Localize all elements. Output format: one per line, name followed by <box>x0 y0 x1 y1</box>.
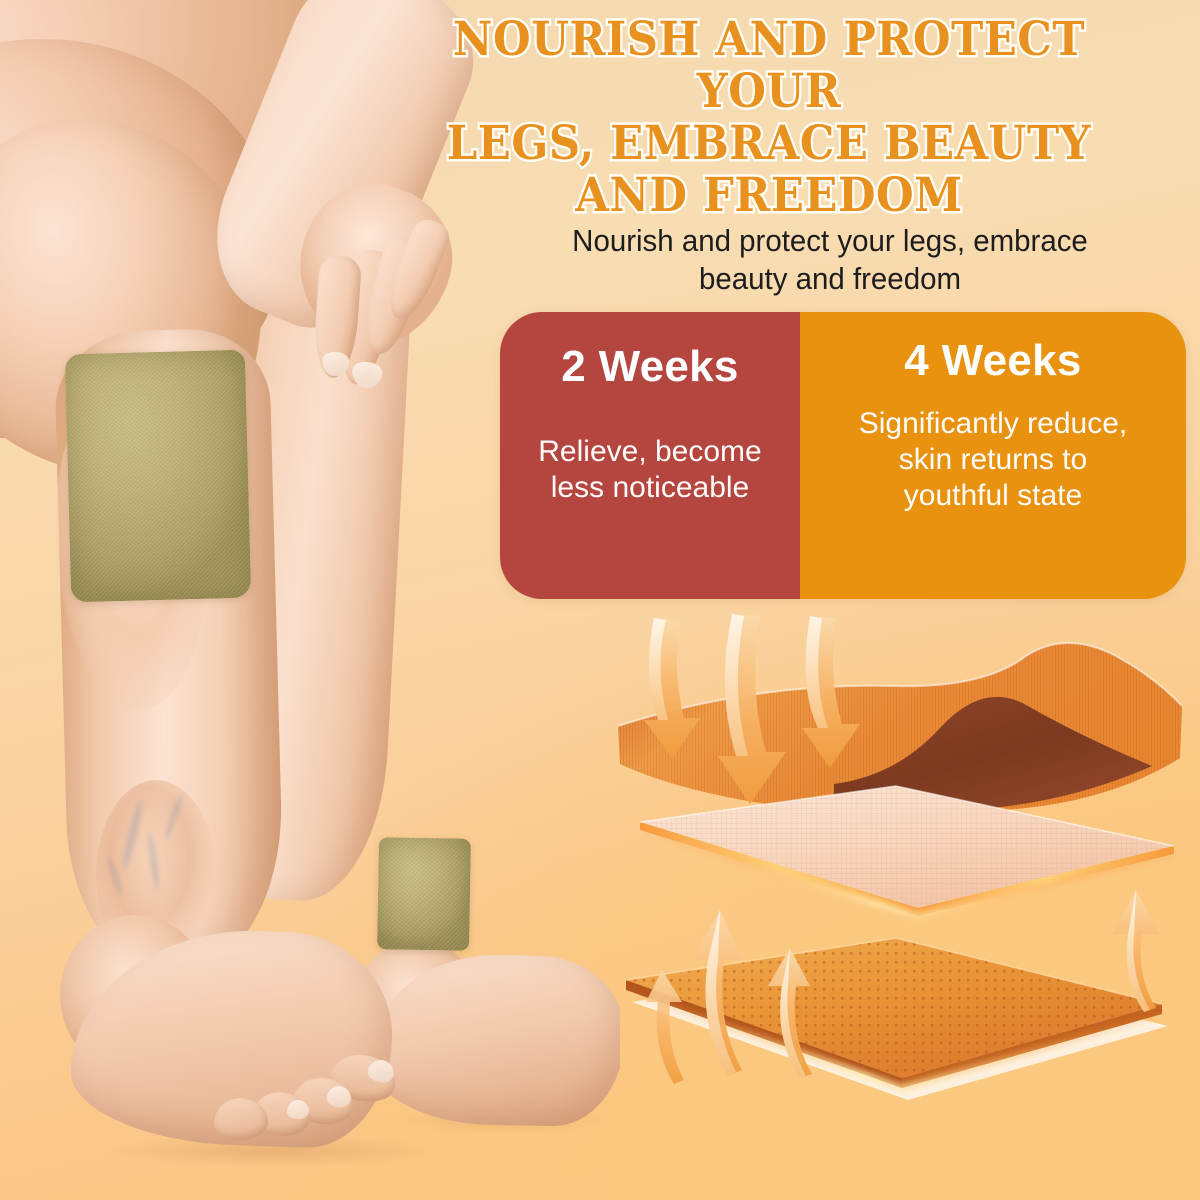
pane-body-line: Relieve, become <box>516 434 784 470</box>
subtitle: Nourish and protect your legs, embrace b… <box>488 222 1172 298</box>
ankle-patch <box>377 837 471 951</box>
pane-body-line: youthful state <box>816 478 1170 514</box>
pane-title-2-weeks: 2 Weeks <box>516 342 784 392</box>
mesh-membrane-layer <box>640 786 1174 916</box>
pane-title-4-weeks: 4 Weeks <box>816 336 1170 386</box>
pane-body-line: skin returns to <box>816 442 1170 478</box>
pane-body-4-weeks: Significantly reduce, skin returns to yo… <box>816 406 1170 514</box>
headline: NOURISH AND PROTECT YOUR LEGS, EMBRACE B… <box>380 14 1158 222</box>
pane-body-line: less noticeable <box>516 470 784 506</box>
layer-diagram <box>596 608 1200 1108</box>
perforated-patch-layer <box>626 938 1168 1100</box>
headline-line-2: LEGS, EMBRACE BEAUTY <box>380 118 1158 170</box>
headline-line-3: AND FREEDOM <box>380 170 1158 222</box>
knee-patch <box>65 350 251 603</box>
comparison-card: 2 Weeks Relieve, become less noticeable … <box>500 312 1186 599</box>
advertisement-banner: NOURISH AND PROTECT YOUR LEGS, EMBRACE B… <box>0 0 1200 1200</box>
comparison-pane-2-weeks: 2 Weeks Relieve, become less noticeable <box>500 312 800 599</box>
comparison-pane-4-weeks: 4 Weeks Significantly reduce, skin retur… <box>800 312 1186 599</box>
pane-body-line: Significantly reduce, <box>816 406 1170 442</box>
subtitle-line-2: beauty and freedom <box>488 260 1172 298</box>
pane-body-2-weeks: Relieve, become less noticeable <box>516 434 784 506</box>
subtitle-line-1: Nourish and protect your legs, embrace <box>488 222 1172 260</box>
headline-line-1: NOURISH AND PROTECT YOUR <box>380 14 1158 118</box>
toenail <box>287 1100 309 1119</box>
